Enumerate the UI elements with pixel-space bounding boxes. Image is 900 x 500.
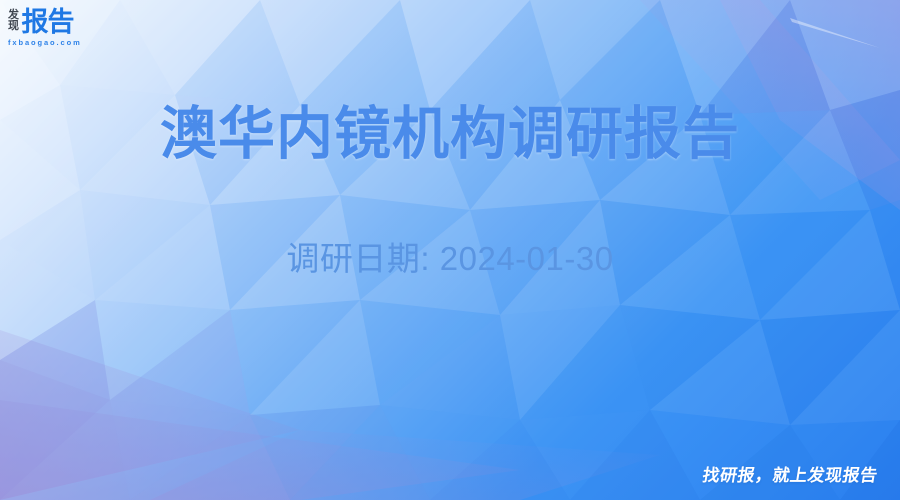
logo-wordmark: 报告 [22,9,74,36]
report-cover-slide: 发 现 报告 fxbaogao.com 澳华内镜机构调研报告 调研日期: 202… [0,0,900,500]
logo-mark-discover: 发 现 [8,9,19,32]
page-title: 澳华内镜机构调研报告 [0,88,900,170]
logo-url: fxbaogao.com [8,38,112,47]
logo-mark-char-2: 现 [8,21,19,32]
site-logo[interactable]: 发 现 报告 fxbaogao.com [8,9,112,55]
survey-date-subtitle: 调研日期: 2024-01-30 [0,232,900,280]
logo-row: 发 现 报告 [8,9,112,36]
footer-tagline: 找研报，就上发现报告 [701,461,880,486]
